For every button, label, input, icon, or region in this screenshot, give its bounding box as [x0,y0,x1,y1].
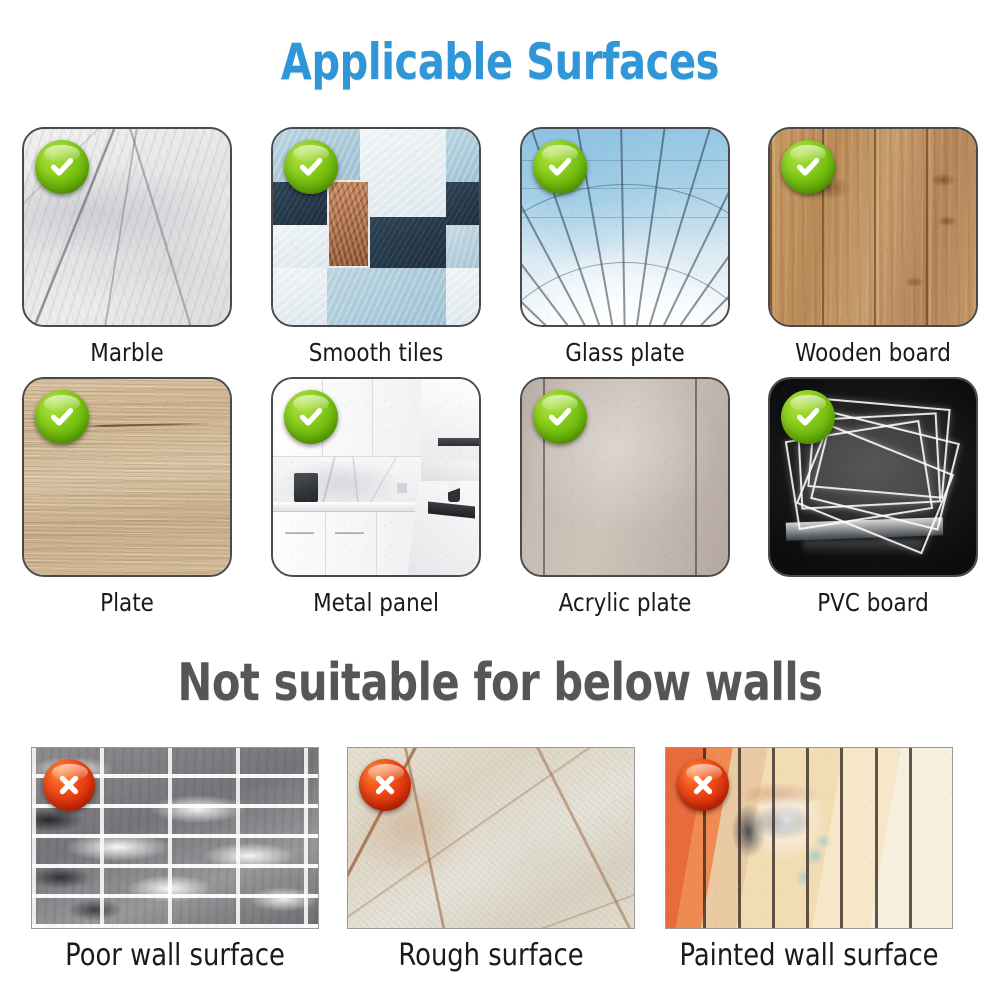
infographic-page: Applicable Surfaces Marble [0,0,1000,1000]
surface-label-glass-plate: Glass plate [522,338,728,368]
surface-label-metal-panel: Metal panel [273,588,479,618]
cross-icon [43,759,95,811]
cross-icon [359,759,411,811]
surface-card-acrylic-plate [520,377,730,577]
surface-label-plate: Plate [24,588,230,618]
surface-card-glass-plate [520,127,730,327]
check-icon [284,140,338,194]
cross-icon [677,759,729,811]
check-icon [35,140,89,194]
page-title-applicable-surfaces: Applicable Surfaces [100,34,900,90]
page-title-not-suitable: Not suitable for below walls [100,654,900,712]
wood-crack [82,423,210,428]
unsuitable-card-poor-wall-surface [31,747,319,929]
surface-card-pvc-board [768,377,978,577]
surface-card-marble [22,127,232,327]
surface-card-smooth-tiles [271,127,481,327]
check-icon [284,390,338,444]
surface-label-pvc-board: PVC board [770,588,976,618]
unsuitable-label-poor-wall-surface: Poor wall surface [29,938,321,974]
surface-card-wooden-board [768,127,978,327]
surface-label-marble: Marble [24,338,230,368]
unsuitable-label-painted-wall-surface: Painted wall surface [663,938,955,974]
check-icon [781,390,835,444]
check-icon [781,140,835,194]
unsuitable-card-painted-wall-surface [665,747,953,929]
check-icon [35,390,89,444]
check-icon [533,390,587,444]
surface-card-plate [22,377,232,577]
surface-label-wooden-board: Wooden board [770,338,976,368]
surface-card-metal-panel [271,377,481,577]
unsuitable-card-rough-surface [347,747,635,929]
check-icon [533,140,587,194]
unsuitable-label-rough-surface: Rough surface [345,938,637,974]
surface-label-smooth-tiles: Smooth tiles [273,338,479,368]
surface-label-acrylic-plate: Acrylic plate [522,588,728,618]
